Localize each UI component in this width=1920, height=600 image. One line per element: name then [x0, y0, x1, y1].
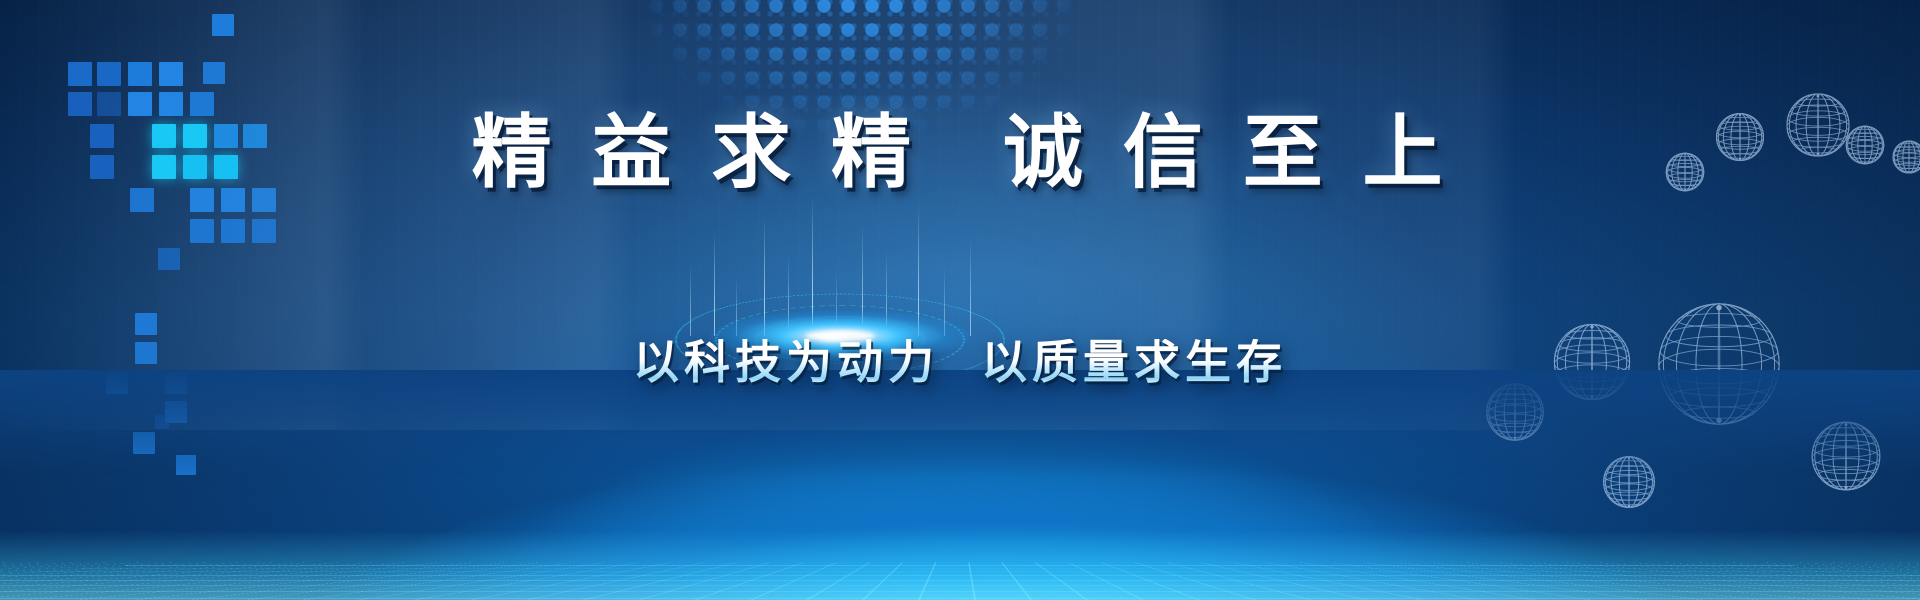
hero-banner: 精 益 求 精 诚 信 至 上 以科技为动力 以质量求生存 — [0, 0, 1920, 600]
text-layer: 精 益 求 精 诚 信 至 上 以科技为动力 以质量求生存 — [0, 0, 1920, 600]
banner-headline: 精 益 求 精 诚 信 至 上 — [0, 112, 1920, 192]
banner-subheadline: 以科技为动力 以质量求生存 — [0, 339, 1920, 385]
